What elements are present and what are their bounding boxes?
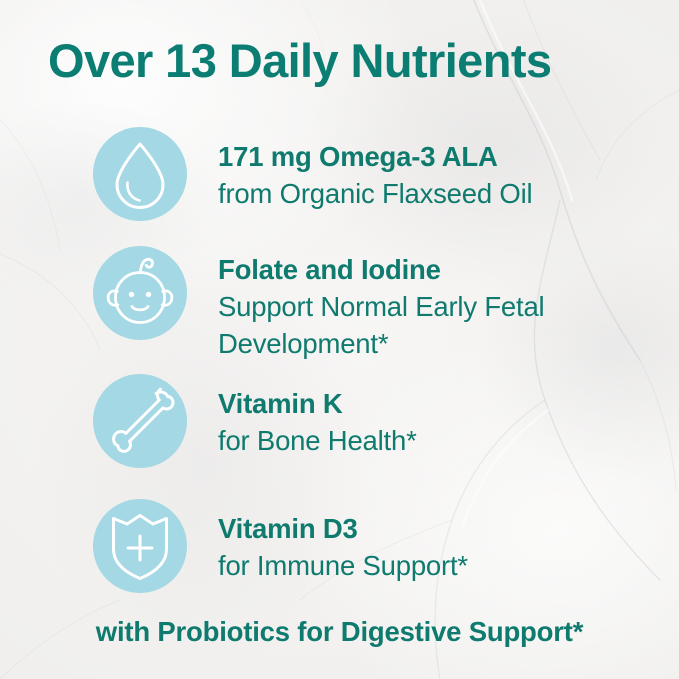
list-item: Folate and Iodine Support Normal Early F… bbox=[0, 243, 679, 353]
baby-face-icon bbox=[93, 246, 187, 340]
list-item-lead: Vitamin K bbox=[218, 385, 658, 422]
list-item-text: Folate and Iodine Support Normal Early F… bbox=[218, 251, 658, 362]
page-title: Over 13 Daily Nutrients bbox=[48, 36, 648, 87]
list-item-detail: for Bone Health* bbox=[218, 422, 658, 459]
list-item-text: 171 mg Omega-3 ALA from Organic Flaxseed… bbox=[218, 138, 658, 212]
list-item-detail: for Immune Support* bbox=[218, 547, 658, 584]
water-droplet-icon bbox=[93, 127, 187, 221]
list-item-lead: 171 mg Omega-3 ALA bbox=[218, 138, 658, 175]
list-item: Vitamin K for Bone Health* bbox=[0, 371, 679, 481]
list-item-lead: Folate and Iodine bbox=[218, 251, 658, 288]
bone-icon bbox=[93, 374, 187, 468]
list-item-detail: Support Normal Early Fetal Development* bbox=[218, 288, 658, 362]
list-item-text: Vitamin K for Bone Health* bbox=[218, 385, 658, 459]
list-item-detail: from Organic Flaxseed Oil bbox=[218, 175, 658, 212]
shield-plus-icon bbox=[93, 499, 187, 593]
list-item-lead: Vitamin D3 bbox=[218, 510, 658, 547]
footer-note: with Probiotics for Digestive Support* bbox=[0, 616, 679, 648]
list-item: Vitamin D3 for Immune Support* bbox=[0, 496, 679, 606]
nutrient-infographic: Over 13 Daily Nutrients 171 mg Omega-3 A… bbox=[0, 0, 679, 679]
list-item: 171 mg Omega-3 ALA from Organic Flaxseed… bbox=[0, 124, 679, 234]
list-item-text: Vitamin D3 for Immune Support* bbox=[218, 510, 658, 584]
